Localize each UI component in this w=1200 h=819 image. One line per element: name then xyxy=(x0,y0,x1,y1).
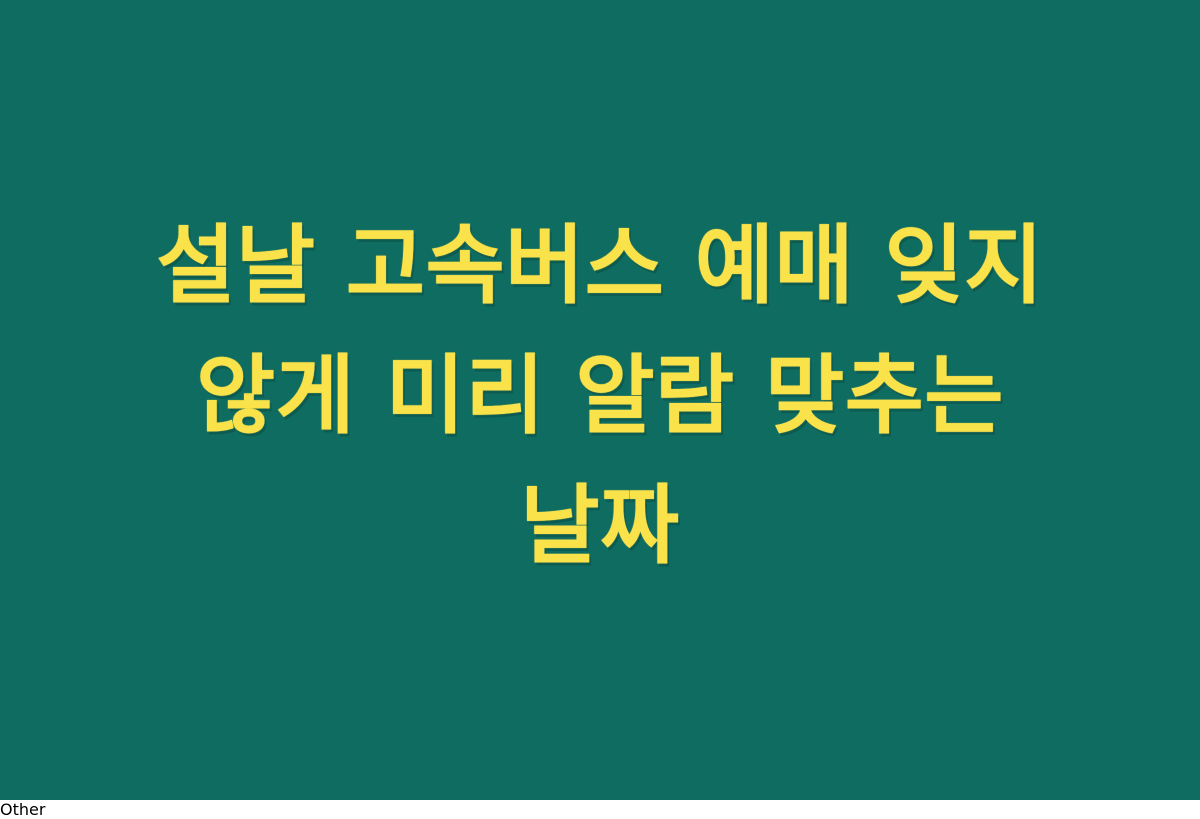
headline-line-1: 설날 고속버스 예매 잊지 xyxy=(156,201,1044,331)
headline-line-2: 않게 미리 알람 맞추는 xyxy=(196,331,1004,461)
headline-block: 설날 고속버스 예매 잊지 않게 미리 알람 맞추는 날짜 xyxy=(80,201,1120,591)
headline-line-3: 날짜 xyxy=(520,461,679,591)
thumbnail-canvas: 설날 고속버스 예매 잊지 않게 미리 알람 맞추는 날짜 xyxy=(0,0,1200,800)
